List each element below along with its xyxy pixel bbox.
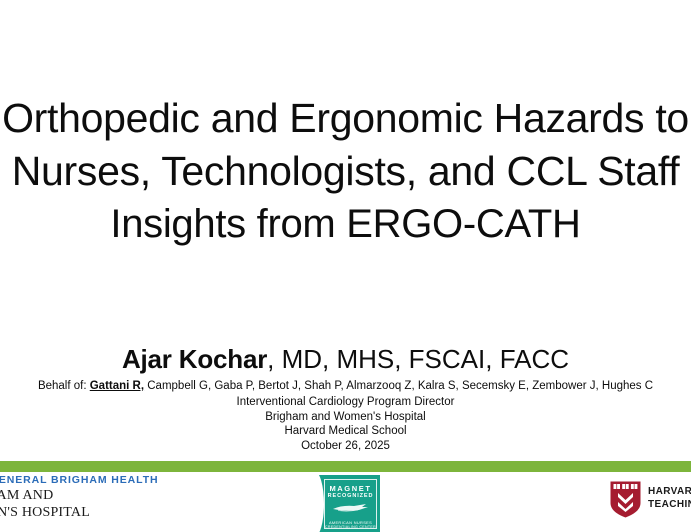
magnet-swoosh-icon	[332, 503, 370, 513]
magnet-logo-subtitle: RECOGNIZED	[325, 493, 376, 500]
affiliation-role: Interventional Cardiology Program Direct…	[0, 395, 691, 410]
brigham-womens-hospital-logo: MASS GENERAL BRIGHAM HEALTH BRIGHAM AND …	[0, 474, 112, 521]
title-line-2: Nurses, Technologists, and CCL Staff	[0, 145, 691, 198]
affiliation-block: Interventional Cardiology Program Direct…	[0, 395, 691, 453]
harvard-logo-line-2: TEACHING HOSPITAL	[648, 499, 691, 512]
magnet-logo-inner: MAGNET RECOGNIZED AMERICAN NURSES CREDEN…	[324, 479, 377, 529]
coauthor-remaining: Campbell G, Gaba P, Bertot J, Shah P, Al…	[144, 380, 653, 392]
magnet-logo-word: MAGNET	[325, 484, 376, 493]
bwh-logo-top-line: MASS GENERAL BRIGHAM HEALTH	[0, 474, 112, 487]
bwh-logo-bottom-line: WOMEN'S HOSPITAL	[0, 504, 112, 521]
presenter-credentials: , MD, MHS, FSCAI, FACC	[267, 344, 569, 374]
harvard-logo-text: HARVARD TEACHING HOSPITAL	[648, 486, 691, 511]
bwh-logo-mid-line: BRIGHAM AND	[0, 487, 112, 504]
title-line-3: Insights from ERGO-CATH	[0, 198, 691, 251]
presentation-date: October 26, 2025	[0, 439, 691, 454]
slide-footer: MASS GENERAL BRIGHAM HEALTH BRIGHAM AND …	[0, 472, 691, 532]
coauthor-first-author: Gattani R,	[90, 380, 144, 392]
harvard-logo-line-1: HARVARD	[648, 486, 691, 499]
title-line-1: Orthopedic and Ergonomic Hazards to	[0, 92, 691, 145]
magnet-logo-notch	[313, 475, 324, 532]
magnet-recognized-logo: MAGNET RECOGNIZED AMERICAN NURSES CREDEN…	[313, 475, 380, 532]
harvard-shield-icon	[610, 481, 641, 518]
slide-title: Orthopedic and Ergonomic Hazards to Nurs…	[0, 92, 691, 251]
magnet-logo-org-line-2: CREDENTIALING CENTER	[325, 525, 376, 530]
coauthor-list: Behalf of: Gattani R, Campbell G, Gaba P…	[0, 379, 691, 393]
presenter-name-block: Ajar Kochar, MD, MHS, FSCAI, FACC	[0, 344, 691, 375]
coauthor-lead-in: Behalf of:	[38, 380, 90, 392]
presenter-name: Ajar Kochar, MD, MHS, FSCAI, FACC	[0, 344, 691, 375]
presenter-name-bold: Ajar Kochar	[122, 344, 267, 374]
affiliation-school: Harvard Medical School	[0, 424, 691, 439]
presentation-slide: Orthopedic and Ergonomic Hazards to Nurs…	[0, 0, 691, 532]
affiliation-hospital: Brigham and Women's Hospital	[0, 410, 691, 425]
accent-bar	[0, 461, 691, 472]
harvard-medical-school-logo: HARVARD TEACHING HOSPITAL	[610, 481, 691, 523]
